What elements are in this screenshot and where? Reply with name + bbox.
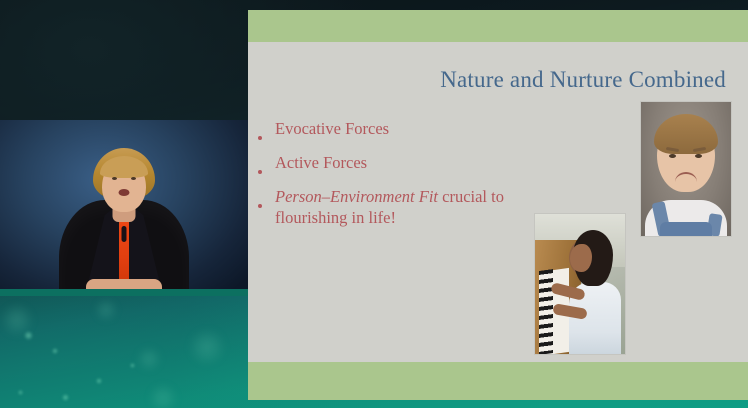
presenter-figure	[59, 200, 189, 296]
bullet-text: Evocative Forces	[275, 118, 578, 139]
slide-bullet-list: Evocative Forces Active Forces Person–En…	[258, 118, 578, 235]
piano-girl-photo	[535, 214, 625, 354]
bullet-dot-icon	[258, 118, 275, 145]
slide-bottom-band	[248, 362, 748, 400]
slide-title: Nature and Nurture Combined	[278, 66, 726, 94]
girl-face	[570, 244, 592, 272]
screen: Nature and Nurture Combined Evocative Fo…	[0, 0, 748, 408]
toddler-overall-bib	[660, 222, 712, 236]
presenter-video[interactable]	[0, 120, 248, 296]
toddler-eye-right	[695, 154, 702, 158]
bullet-dot-icon	[258, 152, 275, 179]
list-item: Person–Environment Fit crucial to flouri…	[258, 186, 578, 228]
presenter-eye-right	[131, 177, 136, 180]
list-item: Evocative Forces	[258, 118, 578, 145]
bullet-text: Active Forces	[275, 152, 578, 173]
slide-top-band	[248, 10, 748, 42]
toddler-photo	[641, 102, 731, 236]
presenter-eye-left	[112, 177, 117, 180]
presenter-desk	[0, 289, 248, 296]
list-item: Active Forces	[258, 152, 578, 179]
presenter-mouth	[119, 189, 130, 196]
toddler-eye-left	[669, 154, 676, 158]
piano-black-keys	[539, 269, 553, 354]
bullet-emphasis: Person–Environment Fit	[275, 187, 438, 206]
presentation-slide[interactable]: Nature and Nurture Combined Evocative Fo…	[248, 10, 748, 400]
bullet-dot-icon	[258, 186, 275, 213]
bullet-text: Person–Environment Fit crucial to flouri…	[275, 186, 578, 228]
